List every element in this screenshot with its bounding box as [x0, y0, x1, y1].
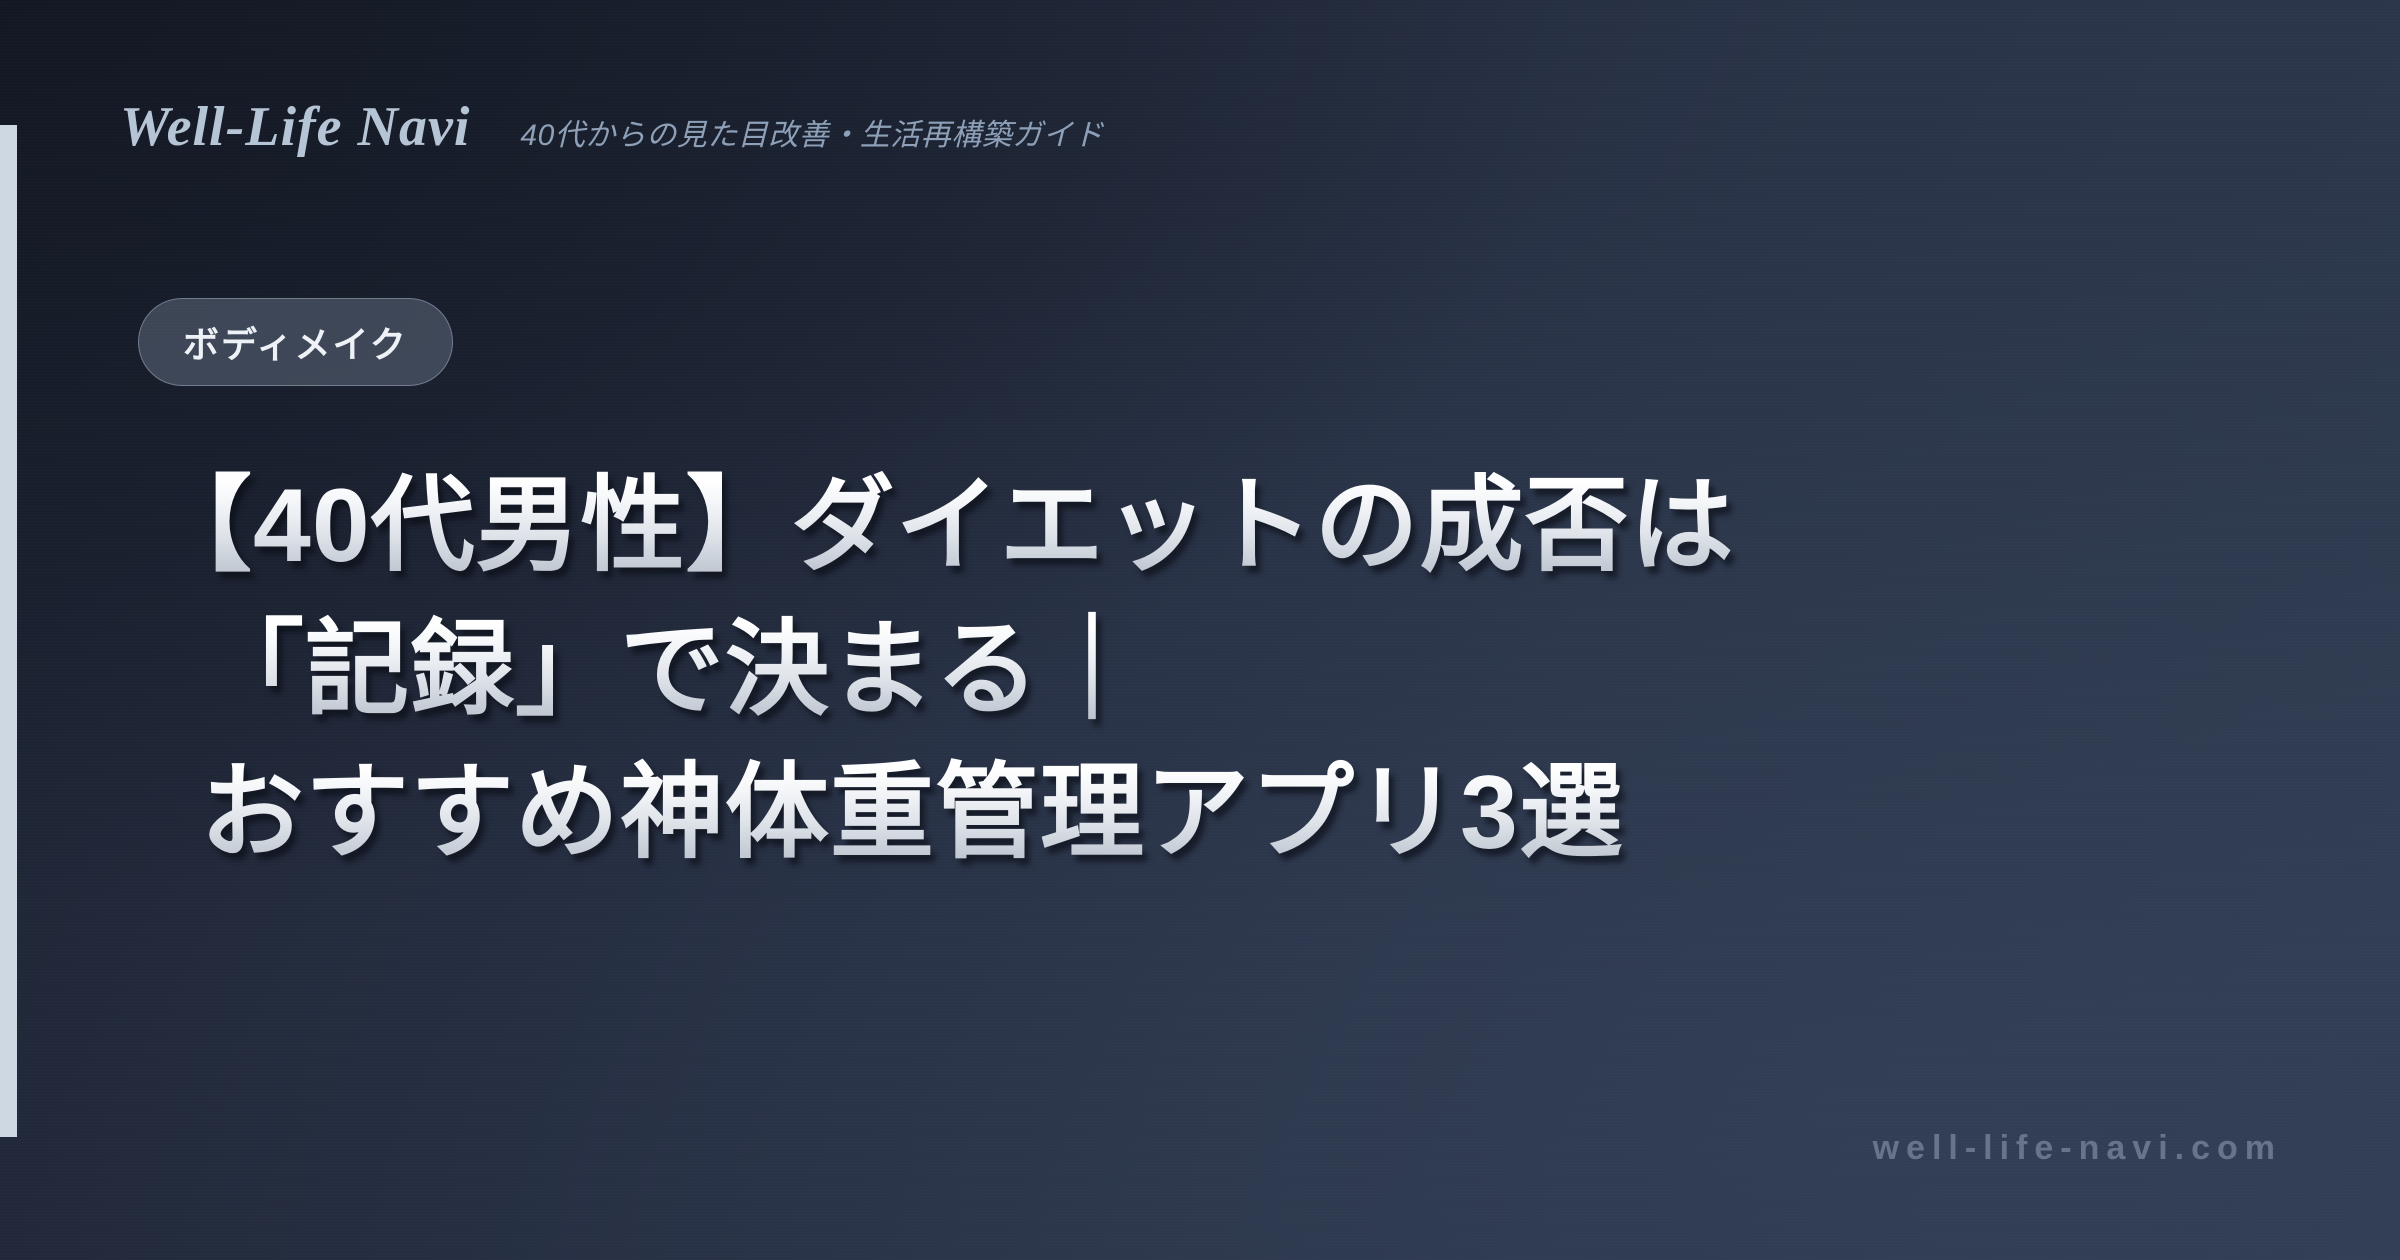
brand-logo-text: Well-Life Navi: [120, 95, 470, 159]
category-badge-label: ボディメイク: [183, 316, 408, 368]
site-header: Well-Life Navi 40代からの見た目改善・生活再構築ガイド: [120, 95, 1104, 159]
article-title-line-1: 【40代男性】ダイエットの成否は: [148, 455, 2280, 599]
og-image-card: Well-Life Navi 40代からの見た目改善・生活再構築ガイド ボディメ…: [0, 0, 2400, 1260]
article-title-line-2: 「記録」で決まる｜: [200, 599, 2280, 743]
article-title-line-3: おすすめ神体重管理アプリ3選: [200, 742, 2280, 886]
site-url-footer: well-life-navi.com: [1873, 1129, 2282, 1168]
left-accent-bar: [0, 125, 17, 1137]
brand-tagline: 40代からの見た目改善・生活再構築ガイド: [520, 110, 1103, 154]
category-badge: ボディメイク: [138, 298, 453, 386]
article-title: 【40代男性】ダイエットの成否は 「記録」で決まる｜ おすすめ神体重管理アプリ3…: [200, 455, 2280, 886]
